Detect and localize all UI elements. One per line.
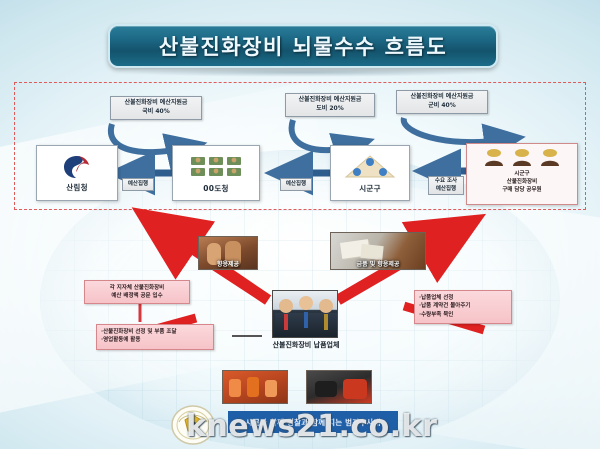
org-city-county-district: 시군구: [330, 145, 410, 201]
officials-caption-line1: 시군구: [514, 171, 529, 177]
officials-caption-line2: 산불진화장비: [507, 179, 537, 185]
police-emblem-icon: [170, 404, 216, 446]
supplier-label: 산불진화장비 납품업체: [256, 340, 356, 350]
org-provincial-office: 00도청: [172, 145, 260, 201]
budget-box-national: 산불진화장비 예산지원금 국비 40%: [110, 96, 202, 120]
budget-provincial-line1: 산불진화장비 예산지원금: [299, 96, 362, 103]
photo-equipment-left: [222, 370, 288, 404]
budget-box-provincial: 산불진화장비 예산지원금 도비 20%: [285, 93, 375, 117]
officials-caption: 시군구 산불진화장비 구매 담당 공무원: [502, 171, 541, 195]
infographic-canvas: 산불진화장비 뇌물수수 흐름도 산불진화장비 예산지원금 국비 40% 산불진화…: [0, 0, 600, 449]
photo-bribe-money: 금품 및 향응제공: [330, 232, 426, 270]
officials-caption-line3: 구매 담당 공무원: [502, 187, 541, 193]
note-equipment-selection: ·산불진화장비 선정 및 부품 조달 ·영업활동에 활용: [96, 324, 214, 350]
officials-box: 시군구 산불진화장비 구매 담당 공무원: [466, 143, 578, 205]
title-container: 산불진화장비 뇌물수수 흐름도: [108, 24, 498, 68]
note-equipment-selection-line1: ·산불진화장비 선정 및 부품 조달: [101, 329, 177, 335]
government-building-icon: [189, 153, 243, 181]
tag-budget-execution-2: 예산집행: [280, 178, 312, 191]
budget-national-line2: 국비 40%: [142, 108, 170, 115]
note-supplier-favors: ·납품업체 선정 ·납품 계약건 몰아주기 ·수량부족 묵인: [414, 290, 512, 324]
org-chart-icon: [344, 153, 396, 181]
org-label-city-county: 시군구: [359, 183, 381, 194]
officials-group-icon: [481, 147, 563, 169]
budget-county-line2: 군비 40%: [428, 102, 456, 109]
budget-box-county: 산불진화장비 예산지원금 군비 40%: [396, 90, 488, 114]
photo-bribe-money-caption: 금품 및 향응제공: [331, 258, 425, 269]
note-budget-document-line1: 각 지자체 산불진화장비: [110, 285, 164, 291]
note-budget-document: 각 지자체 산불진화장비 예산 배정액 공문 입수: [84, 280, 190, 304]
budget-national-line1: 산불진화장비 예산지원금: [125, 99, 188, 106]
photo-equipment-right: [306, 370, 372, 404]
org-korea-forest-service: 산림청: [36, 145, 118, 201]
page-title: 산불진화장비 뇌물수수 흐름도: [159, 31, 447, 61]
footer-banner: 시民과 함께 경찰과 함께 지는 범죄수사대: [228, 411, 398, 433]
budget-provincial-line2: 도비 20%: [316, 105, 344, 112]
note-budget-document-line2: 예산 배정액 공문 입수: [111, 293, 162, 299]
note-equipment-selection-line2: ·영업활동에 활용: [101, 337, 140, 343]
tag-budget-execution-1: 예산집행: [122, 178, 154, 191]
org-label-forest-service: 산림청: [66, 182, 88, 193]
photo-entertainment-caption: 향응제공: [199, 258, 257, 269]
budget-county-line1: 산불진화장비 예산지원금: [411, 93, 474, 100]
note-supplier-favors-line2: ·납품 계약건 몰아주기: [419, 303, 470, 309]
title-shadow: [118, 68, 490, 77]
note-supplier-favors-line3: ·수량부족 묵인: [419, 312, 453, 318]
tag-demand-survey-line1: 수요 조사: [435, 178, 457, 184]
title-box: 산불진화장비 뇌물수수 흐름도: [108, 24, 498, 68]
tag-demand-survey: 수요 조사 예산집행: [428, 176, 464, 195]
note-supplier-favors-line1: ·납품업체 선정: [419, 295, 453, 301]
org-label-provincial-office: 00도청: [203, 183, 228, 194]
taegeuk-logo-icon: [62, 154, 92, 180]
photo-supplier-people: [272, 290, 338, 338]
photo-entertainment: 향응제공: [198, 236, 258, 270]
footer-banner-text: 시民과 함께 경찰과 함께 지는 범죄수사대: [245, 417, 380, 428]
tag-demand-survey-line2: 예산집행: [436, 186, 456, 192]
